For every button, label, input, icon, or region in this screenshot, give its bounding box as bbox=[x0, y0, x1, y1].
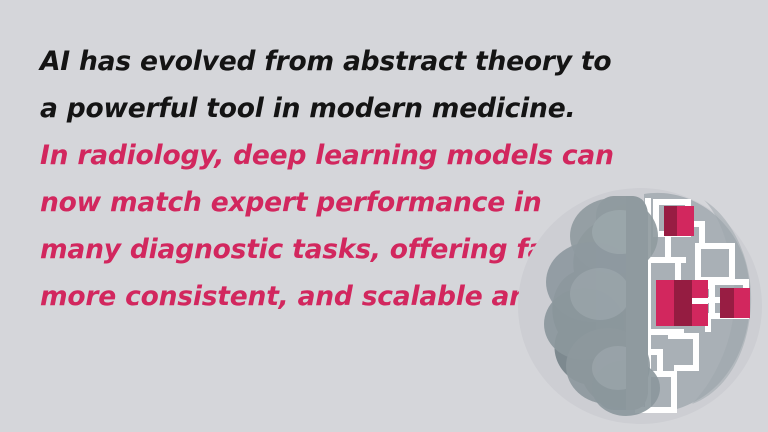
slide-canvas: AI has evolved from abstract theory to a… bbox=[0, 0, 768, 432]
text-line-6: more consistent, and scalable analysis. bbox=[40, 273, 560, 320]
accent-node-right-shadow bbox=[720, 288, 734, 318]
accent-node-right bbox=[720, 288, 750, 318]
accent-node-center-shadow bbox=[674, 280, 692, 326]
ai-brain-illustration bbox=[508, 176, 768, 432]
lobe-highlight-mid bbox=[570, 268, 630, 320]
lobe-spine-edge bbox=[626, 196, 648, 410]
accent-node-top-shadow bbox=[664, 206, 677, 236]
accent-node-center bbox=[656, 280, 708, 326]
accent-node-top bbox=[664, 206, 694, 236]
text-line-2: a powerful tool in modern medicine. bbox=[40, 85, 560, 132]
text-line-1: AI has evolved from abstract theory to bbox=[40, 38, 560, 85]
text-line-3: In radiology, deep learning models can bbox=[40, 132, 560, 179]
text-line-5: many diagnostic tasks, offering faster, bbox=[40, 226, 560, 273]
text-block: AI has evolved from abstract theory to a… bbox=[40, 38, 560, 320]
accent-node-center-notch bbox=[692, 298, 708, 304]
text-line-4: now match expert performance in bbox=[40, 179, 560, 226]
